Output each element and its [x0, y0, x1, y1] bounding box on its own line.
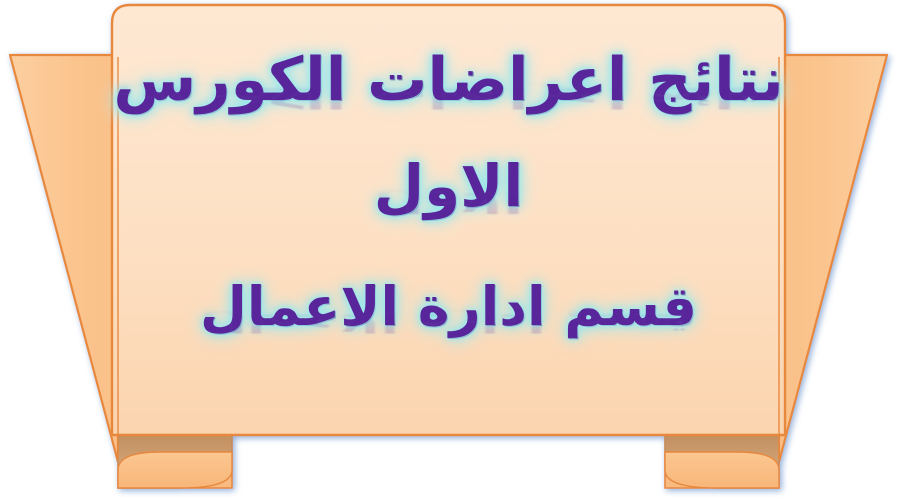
ribbon-center-panel [112, 5, 785, 435]
ribbon-curl-front-left [118, 452, 232, 488]
ribbon-curl-front-right [665, 452, 779, 488]
ribbon-wing-right [779, 55, 887, 462]
ribbon-wing-left [10, 55, 118, 462]
ribbon-body [10, 5, 887, 488]
banner-stage: نتائج اعراضات الكورس نتائج اعراضات الكور… [0, 0, 897, 497]
ribbon-graphic [0, 0, 897, 497]
